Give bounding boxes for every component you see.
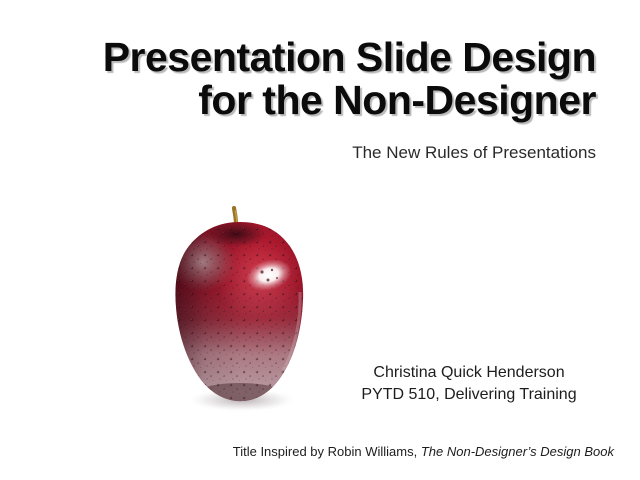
- presenter-name: Christina Quick Henderson: [340, 362, 598, 384]
- slide-title: Presentation Slide Design for the Non-De…: [40, 36, 596, 121]
- credit-book-title: The Non-Designer’s Design Book: [421, 444, 614, 459]
- title-line-1: Presentation Slide Design: [40, 36, 596, 79]
- credit-line: Title Inspired by Robin Williams, The No…: [180, 444, 614, 459]
- apple-illustration: [150, 200, 330, 430]
- apple-body: [150, 200, 330, 430]
- presenter-block: Christina Quick Henderson PYTD 510, Deli…: [340, 362, 598, 405]
- credit-prefix: Title Inspired by Robin Williams,: [233, 444, 421, 459]
- title-line-2: for the Non-Designer: [40, 79, 596, 122]
- presentation-slide: Presentation Slide Design for the Non-De…: [0, 0, 640, 480]
- slide-subtitle: The New Rules of Presentations: [200, 143, 596, 163]
- apple-image: [150, 200, 330, 430]
- presenter-course: PYTD 510, Delivering Training: [340, 384, 598, 406]
